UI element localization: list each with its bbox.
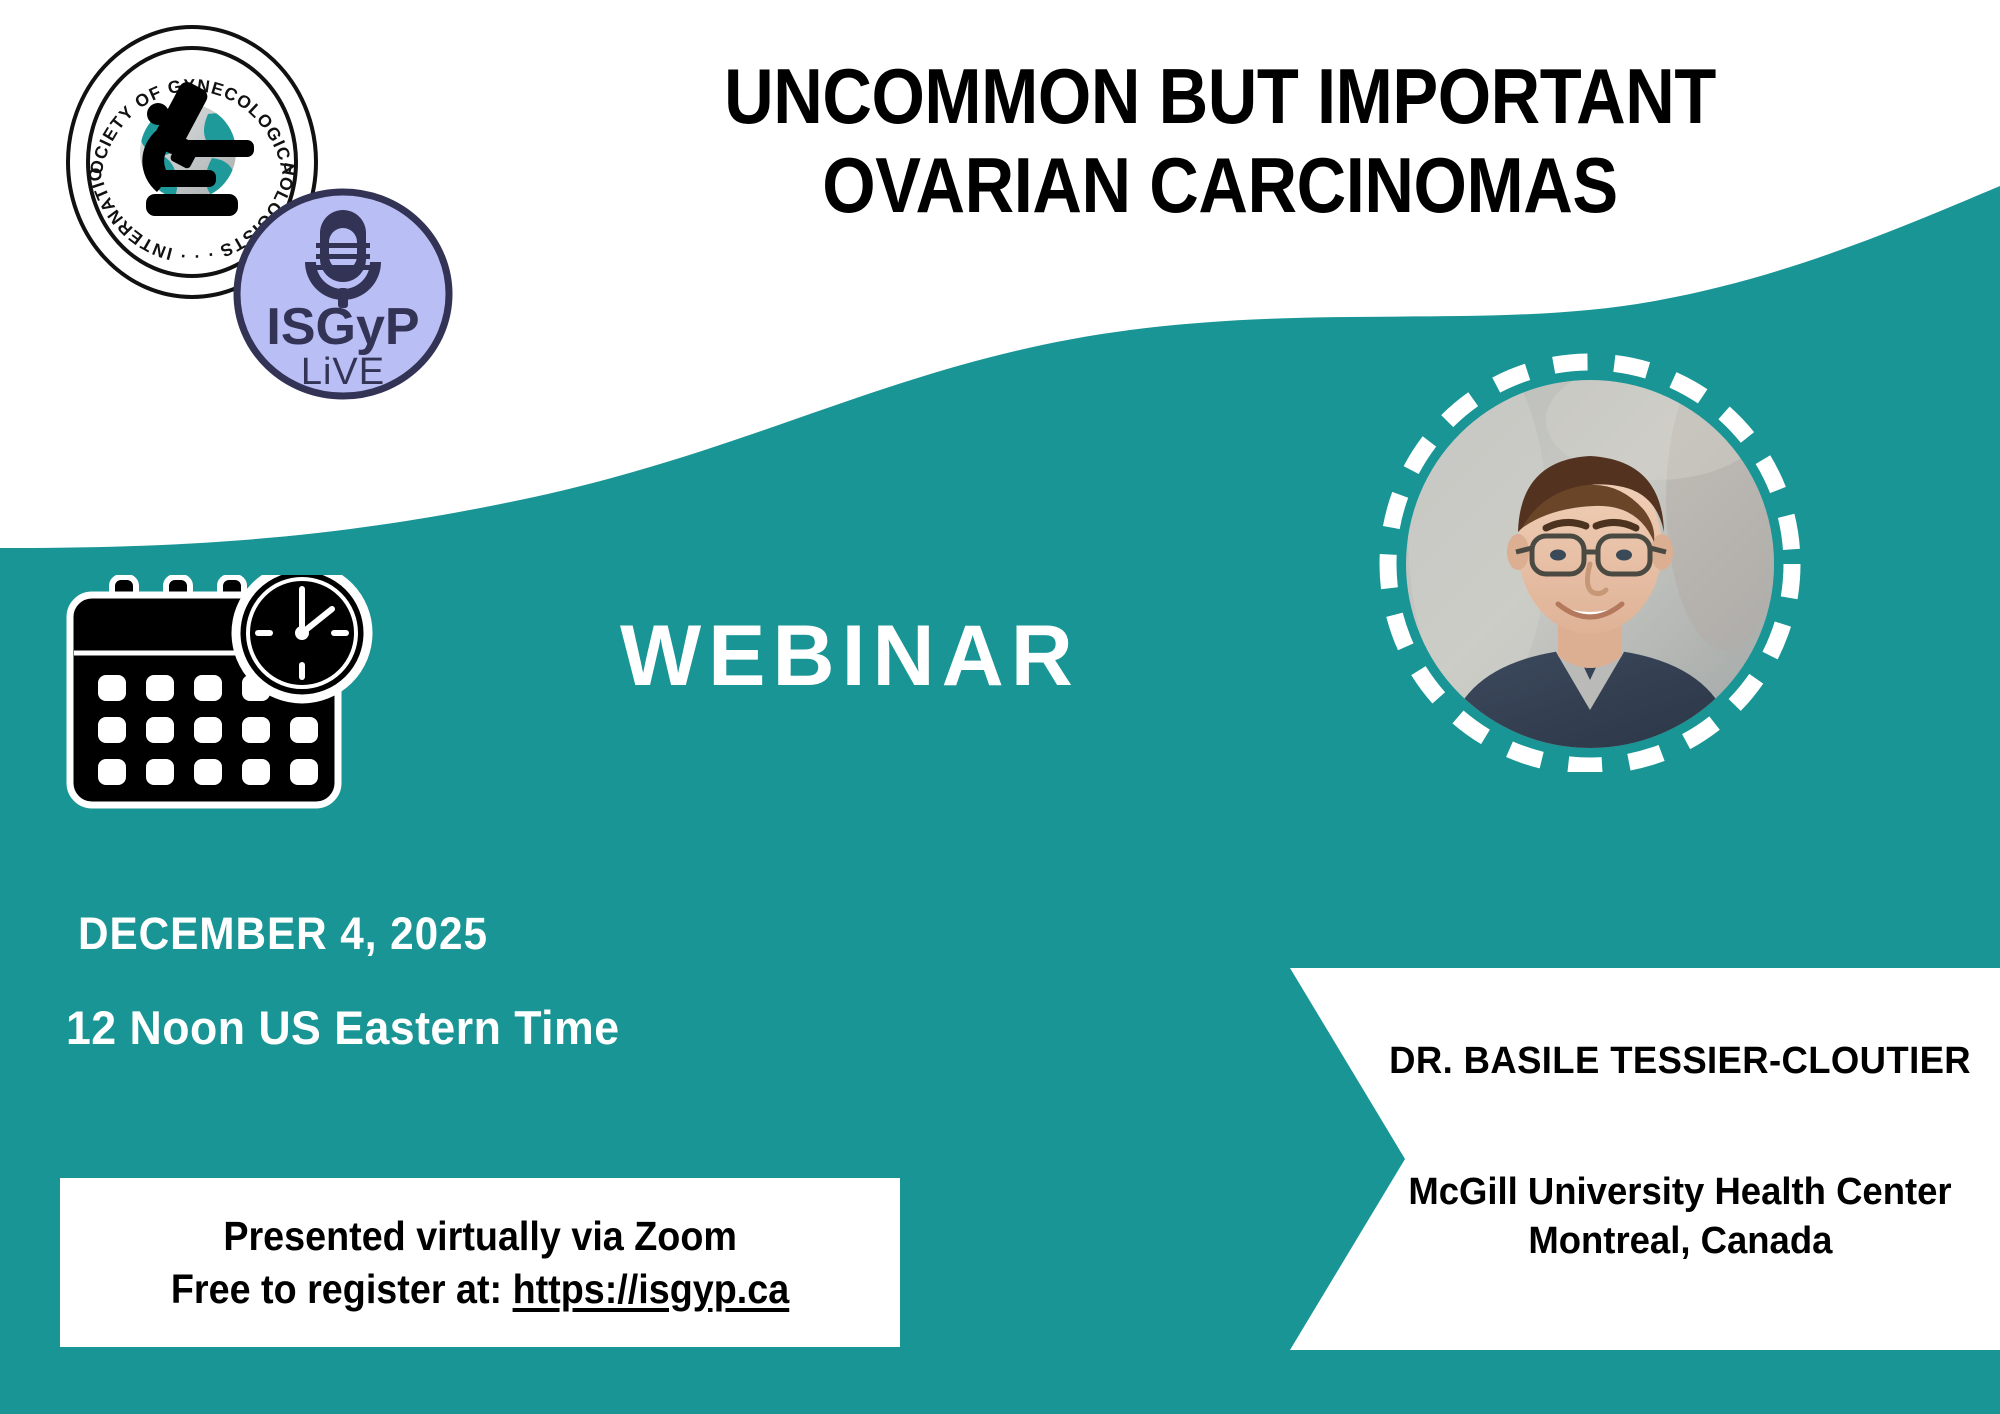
- registration-line-1: Presented virtually via Zoom: [223, 1213, 737, 1260]
- registration-line-2: Free to register at: https://isgyp.ca: [171, 1266, 789, 1313]
- webinar-label: WEBINAR: [620, 607, 1080, 706]
- speaker-photo: [1406, 380, 1774, 748]
- calendar-clock-icon: [50, 575, 380, 815]
- speaker-name: DR. BASILE TESSIER-CLOUTIER: [1389, 1040, 1971, 1083]
- live-badge-sub: LiVE: [301, 351, 385, 393]
- speaker-affiliation-line-2: Montreal, Canada: [1528, 1220, 1832, 1263]
- title-line-2: OVARIAN CARCINOMAS: [639, 141, 1801, 230]
- event-time: 12 Noon US Eastern Time: [66, 1000, 620, 1055]
- registration-prefix: Free to register at:: [171, 1266, 513, 1312]
- registration-box: Presented virtually via Zoom Free to reg…: [60, 1178, 900, 1347]
- speaker-info-text: DR. BASILE TESSIER-CLOUTIER McGill Unive…: [1360, 968, 2000, 1350]
- event-date: DECEMBER 4, 2025: [78, 908, 488, 960]
- title-line-1: UNCOMMON BUT IMPORTANT: [724, 52, 1716, 140]
- speaker-affiliation-line-1: McGill University Health Center: [1408, 1171, 1951, 1214]
- speaker-portrait: [1358, 352, 1918, 772]
- registration-url[interactable]: https://isgyp.ca: [513, 1266, 790, 1312]
- isgyp-live-badge: ISGyP LiVE: [232, 188, 454, 400]
- live-badge-main: ISGyP: [266, 298, 419, 356]
- poster-title: UNCOMMON BUT IMPORTANT OVARIAN CARCINOMA…: [639, 52, 1801, 230]
- webinar-poster: SOCIETY OF GYNECOLOGICAL PATHOLOGISTS · …: [0, 0, 2000, 1414]
